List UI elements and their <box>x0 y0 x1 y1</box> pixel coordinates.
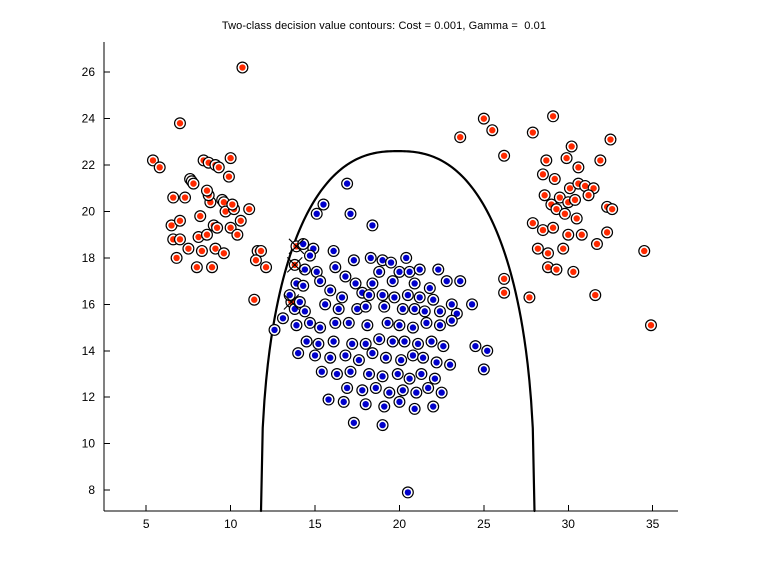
data-point-class-blue <box>362 320 373 331</box>
data-point-class-red <box>548 222 559 233</box>
data-point-class-blue <box>284 290 295 301</box>
point-core <box>263 264 269 270</box>
data-point-class-blue <box>399 336 410 347</box>
point-core <box>449 317 455 323</box>
point-core <box>362 401 368 407</box>
point-core <box>574 215 580 221</box>
point-core <box>226 173 232 179</box>
data-point-class-red <box>605 134 616 145</box>
point-core <box>530 129 536 135</box>
point-core <box>182 194 188 200</box>
point-core <box>384 320 390 326</box>
data-point-class-red <box>639 246 650 257</box>
point-core <box>325 396 331 402</box>
point-core <box>433 359 439 365</box>
data-point-class-blue <box>408 322 419 333</box>
data-point-class-blue <box>401 253 412 264</box>
data-point-class-red <box>180 192 191 203</box>
data-point-class-red <box>539 190 550 201</box>
y-tick-label: 14 <box>82 344 96 358</box>
data-point-class-blue <box>338 396 349 407</box>
data-point-class-blue <box>379 401 390 412</box>
data-point-class-red <box>218 248 229 259</box>
point-core <box>415 341 421 347</box>
data-point-class-blue <box>455 276 466 287</box>
point-core <box>204 232 210 238</box>
point-core <box>484 348 490 354</box>
point-core <box>307 252 313 258</box>
point-core <box>400 306 406 312</box>
data-point-class-blue <box>370 383 381 394</box>
data-point-class-red <box>595 155 606 166</box>
point-core <box>212 245 218 251</box>
data-point-class-red <box>261 262 272 273</box>
point-core <box>168 222 174 228</box>
data-point-class-red <box>197 246 208 257</box>
point-core <box>562 211 568 217</box>
point-core <box>427 285 433 291</box>
data-point-class-blue <box>418 352 429 363</box>
point-core <box>379 257 385 263</box>
data-point-class-blue <box>360 338 371 349</box>
point-core <box>432 375 438 381</box>
point-core <box>406 269 412 275</box>
data-point-class-red <box>175 215 186 226</box>
data-point-class-blue <box>323 394 334 405</box>
data-point-class-blue <box>300 264 311 275</box>
point-core <box>359 387 365 393</box>
point-core <box>386 389 392 395</box>
point-core <box>314 269 320 275</box>
point-core <box>195 234 201 240</box>
point-core <box>347 368 353 374</box>
point-core <box>417 294 423 300</box>
point-core <box>594 241 600 247</box>
point-core <box>641 248 647 254</box>
data-point-class-blue <box>413 338 424 349</box>
data-point-class-red <box>549 174 560 185</box>
data-point-class-red <box>171 253 182 264</box>
y-tick-label: 26 <box>82 65 96 79</box>
data-point-class-red <box>646 320 657 331</box>
point-core <box>344 180 350 186</box>
point-core <box>344 385 350 391</box>
point-core <box>327 287 333 293</box>
data-point-class-blue <box>424 283 435 294</box>
data-point-class-red <box>570 194 581 205</box>
data-point-class-blue <box>431 357 442 368</box>
point-core <box>317 278 323 284</box>
point-core <box>351 420 357 426</box>
point-core <box>435 266 441 272</box>
point-core <box>246 206 252 212</box>
data-point-class-red <box>561 153 572 164</box>
data-point-class-blue <box>330 318 341 329</box>
data-point-class-blue <box>478 364 489 375</box>
data-point-class-red <box>607 204 618 215</box>
point-core <box>177 236 183 242</box>
point-core <box>563 155 569 161</box>
point-core <box>535 245 541 251</box>
data-point-class-blue <box>367 348 378 359</box>
data-point-class-red <box>541 155 552 166</box>
point-core <box>425 385 431 391</box>
point-core <box>572 197 578 203</box>
data-point-class-blue <box>367 220 378 231</box>
point-core <box>395 371 401 377</box>
data-point-class-red <box>207 262 218 273</box>
point-core <box>501 153 507 159</box>
point-core <box>376 269 382 275</box>
point-core <box>383 355 389 361</box>
data-point-class-red <box>527 127 538 138</box>
data-point-class-red <box>175 234 186 245</box>
x-tick-label: 25 <box>477 517 491 531</box>
data-point-class-red <box>558 243 569 254</box>
data-point-class-red <box>568 266 579 277</box>
x-tick-label: 30 <box>562 517 576 531</box>
data-point-class-blue <box>365 253 376 264</box>
data-point-class-blue <box>381 352 392 363</box>
data-point-class-blue <box>389 292 400 303</box>
data-point-class-red <box>191 262 202 273</box>
data-point-class-red <box>592 239 603 250</box>
point-core <box>271 327 277 333</box>
data-point-class-blue <box>315 322 326 333</box>
data-point-class-red <box>183 243 194 254</box>
data-point-class-blue <box>421 318 432 329</box>
data-point-class-red <box>455 132 466 143</box>
point-core <box>234 232 240 238</box>
data-point-class-red <box>499 273 510 284</box>
data-point-class-blue <box>409 304 420 315</box>
data-point-class-red <box>487 125 498 136</box>
point-core <box>334 371 340 377</box>
point-core <box>481 366 487 372</box>
data-point-class-blue <box>320 299 331 310</box>
data-point-class-blue <box>313 338 324 349</box>
data-point-class-blue <box>470 341 481 352</box>
x-tick-label: 20 <box>393 517 407 531</box>
data-point-class-blue <box>386 257 397 268</box>
y-tick-label: 16 <box>82 297 96 311</box>
point-core <box>418 371 424 377</box>
data-point-class-red <box>563 229 574 240</box>
point-core <box>342 273 348 279</box>
point-core <box>398 357 404 363</box>
data-point-class-blue <box>374 266 385 277</box>
data-point-class-red <box>573 162 584 173</box>
point-core <box>440 343 446 349</box>
point-core <box>553 266 559 272</box>
data-point-class-blue <box>416 369 427 380</box>
point-core <box>381 403 387 409</box>
point-core <box>405 292 411 298</box>
data-point-class-blue <box>394 266 405 277</box>
data-point-class-red <box>543 248 554 259</box>
data-point-class-red <box>532 243 543 254</box>
point-core <box>553 206 559 212</box>
data-point-class-red <box>548 111 559 122</box>
point-core <box>557 194 563 200</box>
point-core <box>403 255 409 261</box>
point-core <box>405 489 411 495</box>
point-core <box>366 292 372 298</box>
data-point-class-blue <box>435 320 446 331</box>
point-core <box>177 218 183 224</box>
data-point-class-blue <box>348 255 359 266</box>
point-core <box>575 164 581 170</box>
point-core <box>369 280 375 286</box>
data-point-class-blue <box>342 178 353 189</box>
data-point-class-red <box>202 229 213 240</box>
x-tick-label: 10 <box>224 517 238 531</box>
data-point-class-blue <box>294 297 305 308</box>
point-core <box>351 257 357 263</box>
data-point-class-blue <box>436 387 447 398</box>
data-point-class-blue <box>298 280 309 291</box>
data-point-class-red <box>188 178 199 189</box>
data-point-class-red <box>602 227 613 238</box>
point-core <box>320 201 326 207</box>
point-core <box>582 183 588 189</box>
data-point-class-blue <box>394 320 405 331</box>
point-core <box>410 324 416 330</box>
point-core <box>214 225 220 231</box>
data-point-class-blue <box>397 385 408 396</box>
data-point-class-blue <box>467 299 478 310</box>
point-core <box>604 229 610 235</box>
point-core <box>302 266 308 272</box>
point-core <box>295 350 301 356</box>
point-core <box>579 232 585 238</box>
point-core <box>430 403 436 409</box>
data-point-class-red <box>590 290 601 301</box>
point-core <box>293 322 299 328</box>
data-point-class-red <box>224 171 235 182</box>
point-core <box>545 250 551 256</box>
point-core <box>550 225 556 231</box>
point-core <box>411 306 417 312</box>
data-point-class-blue <box>325 352 336 363</box>
data-point-class-blue <box>340 271 351 282</box>
point-core <box>327 355 333 361</box>
point-core <box>373 385 379 391</box>
point-core <box>396 322 402 328</box>
point-core <box>389 278 395 284</box>
point-core <box>251 297 257 303</box>
point-core <box>391 294 397 300</box>
data-point-class-red <box>213 162 224 173</box>
y-tick-label: 22 <box>82 158 96 172</box>
point-core <box>457 278 463 284</box>
point-core <box>411 280 417 286</box>
data-point-class-blue <box>330 262 341 273</box>
point-core <box>609 206 615 212</box>
data-point-class-blue <box>357 385 368 396</box>
data-point-class-red <box>244 204 255 215</box>
point-core <box>489 127 495 133</box>
point-core <box>417 266 423 272</box>
data-point-class-red <box>249 294 260 305</box>
point-core <box>229 201 235 207</box>
point-core <box>197 213 203 219</box>
data-point-class-blue <box>325 285 336 296</box>
data-point-class-blue <box>404 373 415 384</box>
point-core <box>354 306 360 312</box>
data-point-class-blue <box>315 276 326 287</box>
data-point-class-red <box>202 185 213 196</box>
data-point-class-blue <box>408 350 419 361</box>
data-point-class-blue <box>354 355 365 366</box>
point-core <box>438 389 444 395</box>
data-point-class-blue <box>435 306 446 317</box>
data-point-class-blue <box>402 290 413 301</box>
point-core <box>239 64 245 70</box>
point-core <box>501 290 507 296</box>
figure-canvas: Two-class decision value contours: Cost … <box>0 0 768 576</box>
point-core <box>222 208 228 214</box>
point-core <box>352 280 358 286</box>
data-point-class-red <box>576 229 587 240</box>
data-point-class-blue <box>348 417 359 428</box>
x-tick-label: 15 <box>308 517 322 531</box>
point-core <box>332 320 338 326</box>
data-point-class-blue <box>441 276 452 287</box>
scatter-plot-axes: 51015202530358101214161820222426 <box>0 0 768 576</box>
data-point-class-red <box>251 255 262 266</box>
point-core <box>543 157 549 163</box>
point-core <box>194 264 200 270</box>
point-core <box>379 373 385 379</box>
point-core <box>341 399 347 405</box>
data-point-class-blue <box>445 359 456 370</box>
data-point-class-blue <box>414 292 425 303</box>
point-core <box>221 250 227 256</box>
data-point-class-blue <box>328 336 339 347</box>
point-core <box>209 264 215 270</box>
data-point-class-blue <box>377 371 388 382</box>
data-points <box>148 62 657 498</box>
point-core <box>411 406 417 412</box>
point-core <box>648 322 654 328</box>
data-point-class-blue <box>360 301 371 312</box>
point-core <box>560 245 566 251</box>
point-core <box>349 341 355 347</box>
point-core <box>287 292 293 298</box>
x-tick-label: 5 <box>143 517 150 531</box>
point-core <box>376 336 382 342</box>
point-core <box>342 352 348 358</box>
data-point-class-blue <box>396 355 407 366</box>
data-point-class-red <box>527 218 538 229</box>
point-core <box>150 157 156 163</box>
y-tick-label: 10 <box>82 437 96 451</box>
point-core <box>369 350 375 356</box>
point-core <box>221 199 227 205</box>
data-point-class-red <box>195 211 206 222</box>
data-point-class-red <box>168 192 179 203</box>
point-core <box>157 164 163 170</box>
point-core <box>307 320 313 326</box>
x-tick-label: 35 <box>646 517 660 531</box>
data-point-class-blue <box>310 350 321 361</box>
data-point-class-blue <box>328 246 339 257</box>
point-core <box>389 338 395 344</box>
point-core <box>410 352 416 358</box>
point-core <box>406 375 412 381</box>
data-point-class-blue <box>305 250 316 261</box>
point-core <box>362 303 368 309</box>
point-core <box>607 136 613 142</box>
data-point-class-blue <box>332 369 343 380</box>
data-point-class-blue <box>301 336 312 347</box>
point-core <box>312 352 318 358</box>
data-point-class-red <box>212 222 223 233</box>
point-core <box>420 355 426 361</box>
point-core <box>437 308 443 314</box>
data-point-class-blue <box>409 403 420 414</box>
data-point-class-blue <box>428 294 439 305</box>
point-core <box>379 292 385 298</box>
point-core <box>530 220 536 226</box>
data-point-class-red <box>499 287 510 298</box>
point-core <box>423 320 429 326</box>
data-point-class-blue <box>419 306 430 317</box>
data-point-class-blue <box>374 334 385 345</box>
data-point-class-blue <box>382 318 393 329</box>
point-core <box>430 297 436 303</box>
point-core <box>297 299 303 305</box>
data-point-class-red <box>559 208 570 219</box>
point-core <box>280 315 286 321</box>
point-core <box>428 338 434 344</box>
data-point-class-blue <box>340 350 351 361</box>
point-core <box>396 269 402 275</box>
point-core <box>227 155 233 161</box>
data-point-class-red <box>227 199 238 210</box>
point-core <box>322 301 328 307</box>
data-point-class-blue <box>411 387 422 398</box>
data-point-class-blue <box>446 315 457 326</box>
point-core <box>339 294 345 300</box>
point-core <box>396 399 402 405</box>
data-point-class-blue <box>394 396 405 407</box>
data-point-class-blue <box>345 208 356 219</box>
point-core <box>253 257 259 263</box>
point-core <box>317 324 323 330</box>
y-tick-label: 8 <box>88 483 95 497</box>
point-core <box>204 187 210 193</box>
point-core <box>170 194 176 200</box>
point-core <box>501 276 507 282</box>
y-tick-label: 12 <box>82 390 96 404</box>
data-point-class-blue <box>350 278 361 289</box>
point-core <box>413 389 419 395</box>
data-point-class-red <box>154 162 165 173</box>
point-core <box>550 113 556 119</box>
point-core <box>401 338 407 344</box>
point-core <box>437 322 443 328</box>
point-core <box>335 306 341 312</box>
data-point-class-red <box>175 118 186 129</box>
y-tick-label: 18 <box>82 251 96 265</box>
data-point-class-blue <box>433 264 444 275</box>
point-core <box>303 338 309 344</box>
data-point-class-red <box>225 153 236 164</box>
data-point-class-blue <box>364 290 375 301</box>
point-core <box>597 157 603 163</box>
